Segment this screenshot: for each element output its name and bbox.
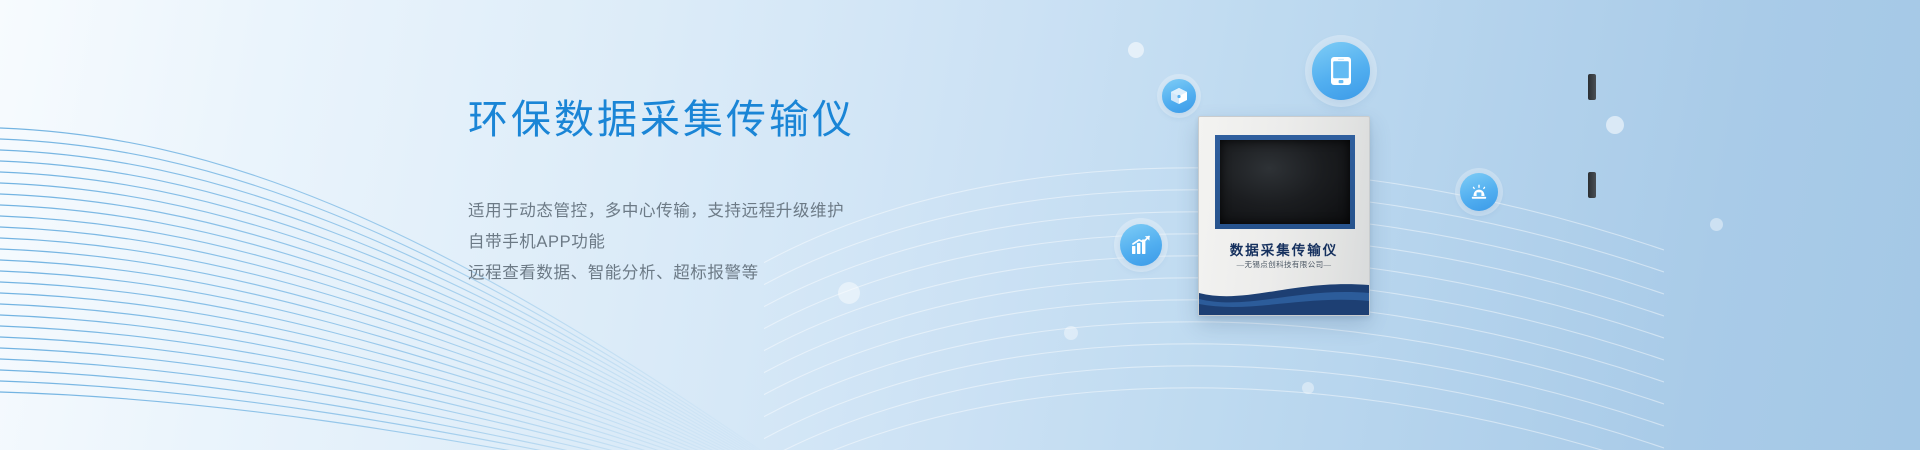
device-screen	[1220, 140, 1350, 224]
banner-copy: 环保数据采集传输仪 适用于动态管控，多中心传输，支持远程升级维护 自带手机APP…	[468, 96, 1028, 289]
smartphone-icon[interactable]	[1312, 42, 1370, 100]
decorative-dot	[1128, 42, 1144, 58]
data-acquisition-device: 数据采集传输仪 —无锡点创科技有限公司—	[1198, 116, 1370, 316]
device-brand-label: 数据采集传输仪	[1199, 239, 1369, 259]
siren-glyph	[1469, 182, 1489, 202]
device-side-port	[1588, 74, 1596, 100]
product-image-stage: 数据采集传输仪 —无锡点创科技有限公司—	[1170, 30, 1590, 430]
banner-headline: 环保数据采集传输仪	[468, 96, 1028, 144]
decorative-dot	[1710, 218, 1723, 231]
device-bottom-wave	[1199, 271, 1369, 315]
package-box-icon[interactable]	[1162, 79, 1196, 113]
banner-subtitle-2: 自带手机APP功能	[468, 227, 1028, 258]
box-glyph	[1170, 87, 1188, 105]
decorative-dot	[1606, 116, 1624, 134]
device-side-port	[1588, 172, 1596, 198]
bar-chart-glyph	[1130, 234, 1152, 256]
decorative-dot	[1064, 326, 1078, 340]
device-company-label: —无锡点创科技有限公司—	[1199, 259, 1369, 270]
bar-chart-growth-icon[interactable]	[1120, 224, 1162, 266]
smartphone-glyph	[1328, 56, 1354, 86]
device-screen-bezel	[1215, 135, 1355, 229]
alarm-siren-icon[interactable]	[1460, 173, 1498, 211]
banner-subtitle-list: 适用于动态管控，多中心传输，支持远程升级维护 自带手机APP功能 远程查看数据、…	[468, 196, 1028, 289]
banner-subtitle-1: 适用于动态管控，多中心传输，支持远程升级维护	[468, 196, 1028, 227]
product-banner: 环保数据采集传输仪 适用于动态管控，多中心传输，支持远程升级维护 自带手机APP…	[0, 0, 1920, 450]
banner-subtitle-3: 远程查看数据、智能分析、超标报警等	[468, 258, 1028, 289]
